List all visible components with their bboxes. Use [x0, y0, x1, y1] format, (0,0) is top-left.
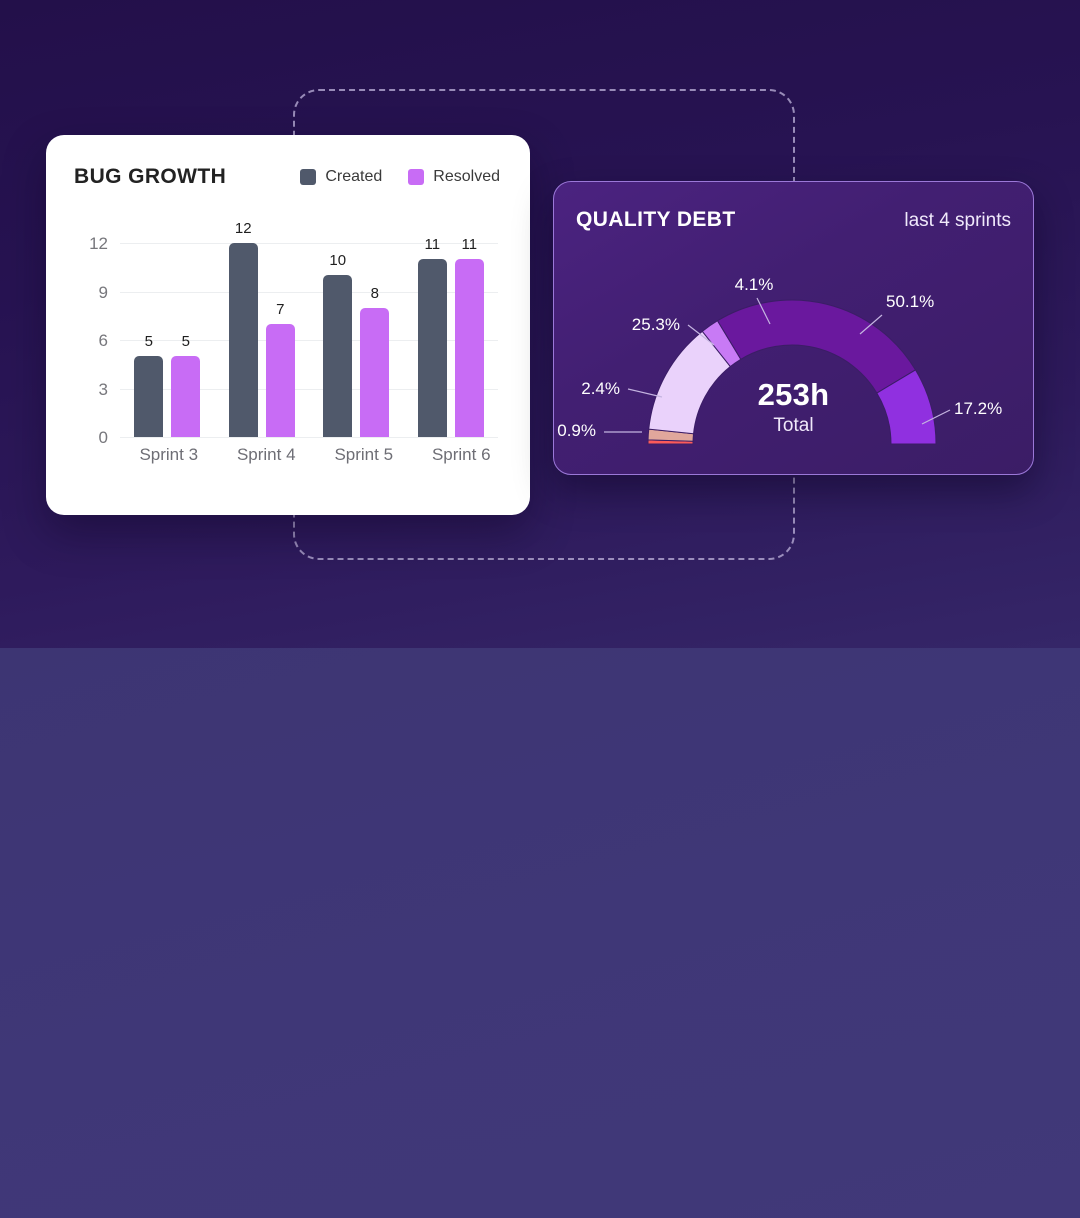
bug-growth-legend: Created Resolved	[300, 168, 500, 186]
bar-value-label: 12	[235, 220, 252, 237]
bar-column[interactable]: 10	[323, 227, 352, 437]
bar-group: 108	[309, 227, 404, 437]
bar-value-label: 11	[461, 236, 477, 253]
bar-column[interactable]: 12	[229, 227, 258, 437]
bar-created[interactable]	[134, 356, 163, 437]
bar-groups: 551271081111	[120, 227, 498, 437]
bug-growth-header: BUG GROWTH Created Resolved	[74, 165, 500, 189]
bug-growth-plot: 036912 551271081111 Sprint 3Sprint 4Spri…	[74, 227, 510, 515]
bar-column[interactable]: 7	[266, 227, 295, 437]
bar-column[interactable]: 8	[360, 227, 389, 437]
legend-label-created: Created	[325, 168, 382, 186]
y-axis-tick-label: 3	[74, 380, 108, 400]
legend-item-resolved[interactable]: Resolved	[408, 168, 500, 186]
bar-column[interactable]: 5	[134, 227, 163, 437]
legend-label-resolved: Resolved	[433, 168, 500, 186]
background-bottom	[0, 648, 1080, 1218]
bar-value-label: 5	[182, 333, 190, 350]
bar-resolved[interactable]	[455, 259, 484, 437]
bar-value-label: 8	[371, 285, 379, 302]
bar-column[interactable]: 11	[418, 227, 447, 437]
y-axis-tick-label: 12	[74, 234, 108, 254]
bar-value-label: 7	[276, 301, 284, 318]
legend-swatch-resolved	[408, 169, 424, 185]
bug-growth-title: BUG GROWTH	[74, 165, 226, 189]
bar-value-label: 10	[329, 252, 346, 269]
bar-created[interactable]	[229, 243, 258, 437]
bar-created[interactable]	[418, 259, 447, 437]
y-axis-tick-label: 9	[74, 283, 108, 303]
bar-value-label: 5	[145, 333, 153, 350]
x-axis-label: Sprint 6	[413, 445, 511, 465]
bar-column[interactable]: 5	[171, 227, 200, 437]
bar-group: 127	[215, 227, 310, 437]
screenshot-root: BUG GROWTH Created Resolved 036912 55127…	[0, 0, 1080, 1218]
x-axis-label: Sprint 4	[218, 445, 316, 465]
x-axis-labels: Sprint 3Sprint 4Sprint 5Sprint 6	[120, 445, 510, 465]
bug-growth-card: BUG GROWTH Created Resolved 036912 55127…	[46, 135, 530, 515]
quality-debt-card: QUALITY DEBT last 4 sprints 0.9%2.4%25.3…	[553, 181, 1034, 475]
gridline	[120, 437, 498, 438]
gauge-slice-label: 25.3%	[632, 315, 680, 334]
plot-area: 036912 551271081111	[74, 227, 498, 437]
legend-swatch-created	[300, 169, 316, 185]
bar-column[interactable]: 11	[455, 227, 484, 437]
y-axis-tick-label: 0	[74, 428, 108, 448]
legend-item-created[interactable]: Created	[300, 168, 382, 186]
gauge-slice-label: 50.1%	[886, 292, 934, 311]
x-axis-label: Sprint 5	[315, 445, 413, 465]
gauge-center-value: 253h	[554, 377, 1033, 413]
y-axis-tick-label: 6	[74, 331, 108, 351]
gauge-slice-label: 4.1%	[735, 275, 774, 294]
bar-group: 55	[120, 227, 215, 437]
bar-created[interactable]	[323, 275, 352, 437]
bar-group: 1111	[404, 227, 499, 437]
bar-resolved[interactable]	[266, 324, 295, 437]
bar-resolved[interactable]	[360, 308, 389, 437]
gauge-center-label: Total	[554, 415, 1033, 437]
x-axis-label: Sprint 3	[120, 445, 218, 465]
bar-resolved[interactable]	[171, 356, 200, 437]
bar-value-label: 11	[424, 236, 440, 253]
